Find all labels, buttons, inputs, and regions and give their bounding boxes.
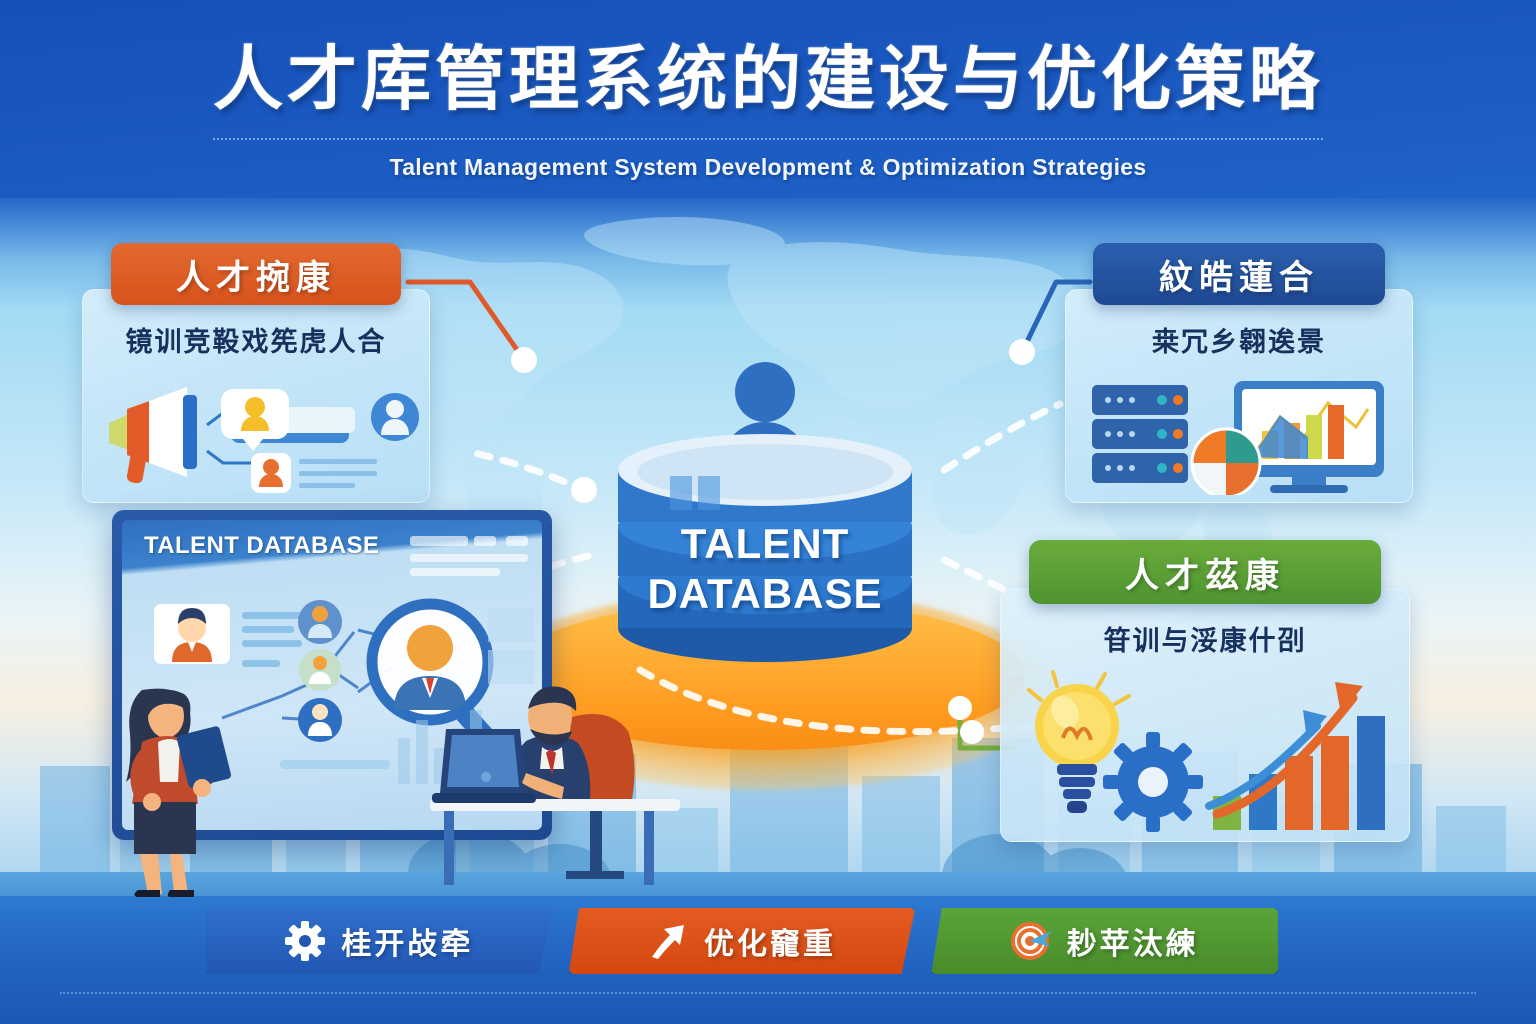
pie-chart-icon [1192,429,1260,495]
card-talent-development-body: 䇞训与浽康什刟 [1000,588,1410,842]
target-dart-icon [1011,921,1051,961]
page-title: 人才库管理系统的建设与优化策略 [0,40,1536,118]
title-divider [213,138,1323,140]
gear-icon [1103,732,1203,832]
talent-database-cylinder[interactable]: TALENT DATABASE [612,360,918,660]
megaphone-icon [109,387,197,484]
gear-icon [285,921,325,961]
profile-card-icon [154,604,230,664]
growth-chart-icon [1209,682,1385,830]
card-system-integration[interactable]: 紋皓蓮合 桒冗乡翱逘景 [1065,243,1413,503]
card-system-integration-body: 桒冗乡翱逘景 [1065,289,1413,503]
card-talent-development-title: 人才茲康 [1125,548,1285,597]
person-seated-with-laptop [430,655,680,900]
database-label-line1: TALENT [612,520,918,568]
tab-system-development[interactable]: 桂开敁牵 [206,908,553,974]
card-talent-development-art [1001,664,1409,832]
bottom-tab-bar: 桂开敁牵 优化竉重 耖苹汰練 [206,908,1278,974]
infographic-canvas: 人才库管理系统的建设与优化策略 Talent Management System… [0,0,1536,1024]
card-talent-sourcing-title: 人才捥康 [176,250,336,299]
candidate-avatar-icon [298,600,342,742]
card-talent-sourcing-header: 人才捥康 [111,243,401,305]
tab-performance-target[interactable]: 耖苹汰練 [931,908,1278,974]
user-list-icon [251,453,377,493]
lightbulb-icon [1029,672,1129,813]
database-label-line2: DATABASE [612,570,918,618]
page-subtitle: Talent Management System Development & O… [0,154,1536,181]
bottom-divider [60,992,1476,994]
profile-avatar-icon [371,393,419,441]
card-talent-sourcing-body: 镜训竞䩔戏筅虎人合 [82,289,430,503]
card-talent-sourcing[interactable]: 人才捥康 镜训竞䩔戏筅虎人合 [82,243,430,503]
card-system-integration-art [1066,365,1412,495]
card-system-integration-title: 紋皓蓮合 [1159,250,1319,299]
card-talent-development-header: 人才茲康 [1029,540,1381,604]
tab-system-development-label: 桂开敁牵 [341,919,473,963]
tab-optimization-label: 优化竉重 [704,919,836,963]
header: 人才库管理系统的建设与优化策略 Talent Management System… [0,40,1536,181]
card-system-integration-header: 紋皓蓮合 [1093,243,1385,305]
server-rack-icon [1092,385,1188,483]
tab-optimization[interactable]: 优化竉重 [569,908,916,974]
card-talent-sourcing-art [83,365,429,495]
tab-performance-target-label: 耖苹汰練 [1067,919,1199,963]
card-talent-development[interactable]: 人才茲康 䇞训与浽康什刟 [1000,540,1410,842]
person-standing-with-tablet [100,672,240,897]
upward-arrow-icon [648,921,688,961]
